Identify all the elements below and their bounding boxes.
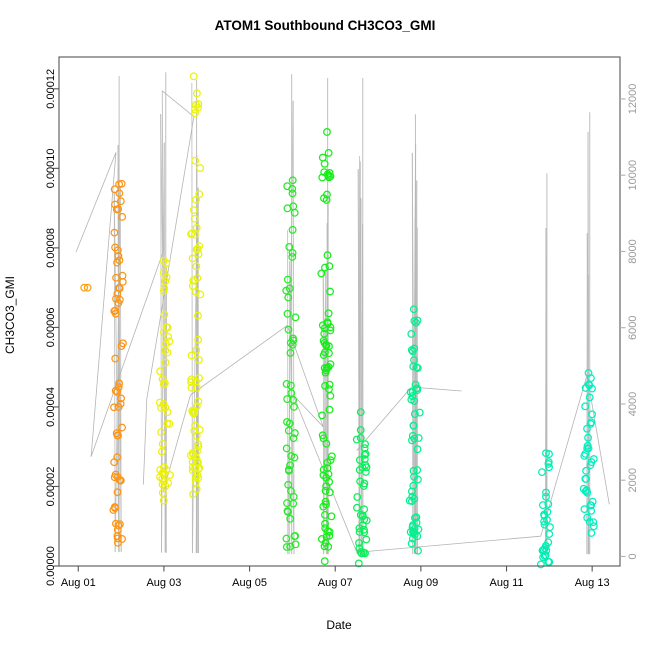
y-tick-label: 0.00000 <box>45 546 57 586</box>
x-tick-label: Aug 11 <box>489 577 523 589</box>
x-tick-label: Aug 09 <box>403 577 438 589</box>
y-tick-label: 0.00002 <box>45 467 57 507</box>
scatter-plot: 0.000000.000020.000040.000060.000080.000… <box>0 0 650 650</box>
connector-lines <box>76 91 609 554</box>
y2-tick-label: 12000 <box>627 84 639 115</box>
y-tick-label: 0.00008 <box>45 228 57 268</box>
y-tick-label: 0.00010 <box>45 148 57 188</box>
y2-tick-label: 2000 <box>627 468 639 492</box>
x-tick-label: Aug 01 <box>61 577 96 589</box>
x-tick-label: Aug 13 <box>575 577 610 589</box>
y2-tick-label: 6000 <box>627 315 639 339</box>
x-tick-label: Aug 05 <box>232 577 267 589</box>
point-group-flight-6-green <box>318 129 335 565</box>
point-group-flight-9-turquoise <box>538 450 554 568</box>
y-tick-label: 0.00012 <box>45 69 57 109</box>
y2-tick-label: 8000 <box>627 239 639 263</box>
x-tick-label: Aug 07 <box>318 577 353 589</box>
data-points <box>81 73 597 568</box>
point-group-flight-3-yellow <box>157 257 174 504</box>
y2-tick-label: 10000 <box>627 160 639 191</box>
x-tick-label: Aug 03 <box>146 577 181 589</box>
y2-tick-label: 4000 <box>627 392 639 416</box>
altitude-profile-lines <box>114 72 590 555</box>
y-tick-label: 0.00006 <box>45 308 57 348</box>
y2-tick-label: 0 <box>627 553 639 559</box>
y-tick-label: 0.00004 <box>45 387 57 427</box>
point-group-flight-4-yellow <box>188 73 204 498</box>
chart-canvas: 0.000000.000020.000040.000060.000080.000… <box>0 0 650 650</box>
